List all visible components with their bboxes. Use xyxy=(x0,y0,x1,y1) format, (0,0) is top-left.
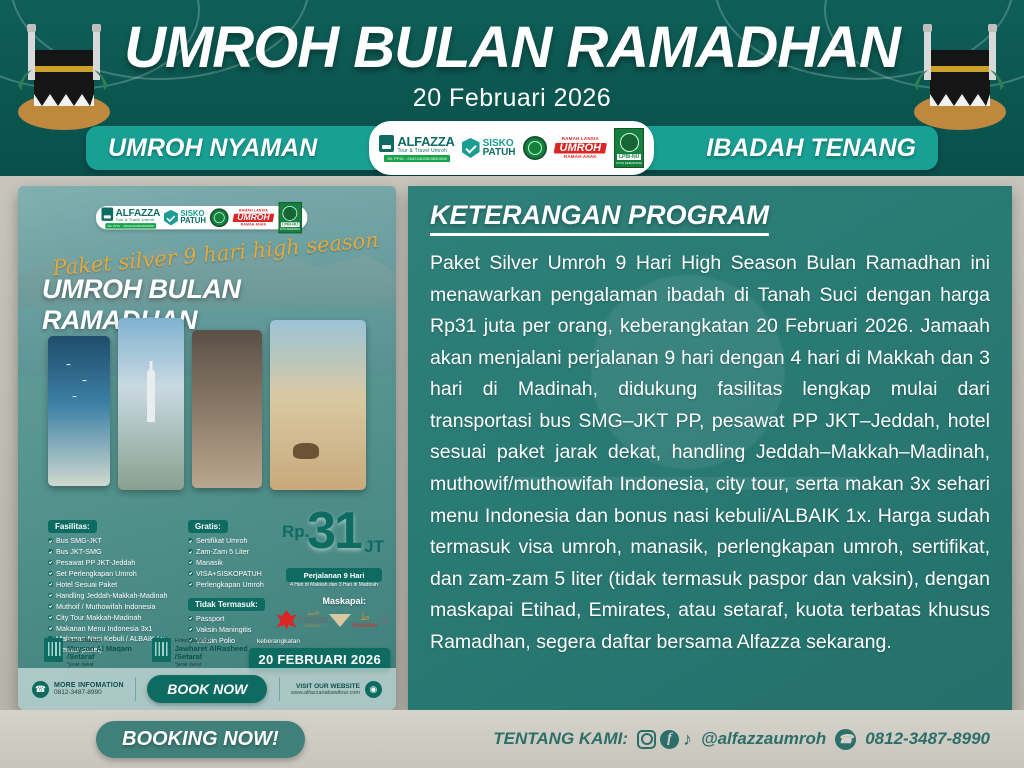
social-icons: f ♪ xyxy=(637,729,692,750)
globe-icon xyxy=(283,206,298,221)
tiktok-icon[interactable]: ♪ xyxy=(683,729,692,750)
alfazza-logo: ALFAZZA Tour & Travel Umroh SK PPIU : 26… xyxy=(101,207,160,229)
shield-check-icon xyxy=(462,138,480,158)
ramah-top: RAMAH LANSIA xyxy=(239,209,268,213)
package-poster-card: ALFAZZA Tour & Travel Umroh SK PPIU : 26… xyxy=(18,186,396,710)
phone-icon: ☎ xyxy=(835,729,856,750)
bottom-bar: BOOKING NOW! TENTANG KAMI: f ♪ @alfazzau… xyxy=(0,710,1024,768)
header-date: 20 Februari 2026 xyxy=(0,84,1024,113)
alfazza-name: ALFAZZA xyxy=(397,134,454,149)
check-icon xyxy=(48,549,53,554)
check-icon xyxy=(48,615,53,620)
poster-footer: ☎ MORE INFOMATION 0812-3487-8990 BOOK NO… xyxy=(18,668,396,710)
lpbi-line2: KOTA SEMARANG xyxy=(616,161,642,165)
trip-duration-detail: 4 Hari di Makkah dan 3 Hari di Madinah xyxy=(278,582,390,588)
ramah-mid: UMROH xyxy=(554,143,608,154)
alfazza-subtitle: Tour & Travel Umroh xyxy=(397,148,454,154)
certification-logo-strip: ALFAZZA Tour & Travel Umroh SK PPIU : 26… xyxy=(369,121,654,175)
book-now-button[interactable]: BOOK NOW xyxy=(147,675,267,703)
ramah-lansia-logo: RAMAH LANSIA UMROH RAMAH ANAK xyxy=(554,137,608,159)
list-item: Handling Jeddah-Makkah-Madinah xyxy=(48,591,180,602)
header-banner: UMROH BULAN RAMADHAN 20 Februari 2026 UM… xyxy=(0,0,1024,176)
free-heading: Gratis: xyxy=(188,520,228,533)
sisko-patuh-logo: SISKO PATUH xyxy=(462,138,516,158)
price-currency: Rp. xyxy=(282,522,309,542)
lpbi-line1: LPBI-NU xyxy=(617,154,641,160)
globe-icon: ◉ xyxy=(365,681,382,698)
social-handle[interactable]: @alfazzaumroh xyxy=(701,729,826,749)
list-item: Pesawat PP JKT-Jeddah xyxy=(48,558,180,569)
about-us-label: TENTANG KAMI: xyxy=(493,729,628,749)
photo-tile-group xyxy=(40,310,376,500)
check-icon xyxy=(188,582,193,587)
check-icon xyxy=(48,571,53,576)
departure-label: keberangkatan xyxy=(257,638,300,645)
about-us-contact: TENTANG KAMI: f ♪ @alfazzaumroh ☎ 0812-3… xyxy=(493,729,990,750)
trip-duration-badge: Perjalanan 9 Hari xyxy=(286,568,382,582)
price-block: Rp. 31 JT xyxy=(282,508,386,555)
photo-tile xyxy=(118,318,184,490)
list-item: Manasik xyxy=(188,558,298,569)
list-item: Bus SMG-JKT xyxy=(48,536,180,547)
divider xyxy=(135,677,136,701)
slogan-left: UMROH NYAMAN xyxy=(108,134,317,163)
kemenag-logo-icon xyxy=(523,136,547,160)
hotel-stars: ★★★★ xyxy=(152,635,171,639)
shield-check-icon xyxy=(164,210,178,226)
airlines-row: الاتحاد ETIHAD AIRWAYS ط Emirates ✈ xyxy=(276,610,392,630)
sisko-line2: PATUH xyxy=(483,148,516,158)
alfazza-name: ALFAZZA xyxy=(116,207,161,219)
price-unit: JT xyxy=(364,537,384,557)
hotel-building-icon: ★★★★ xyxy=(152,638,171,662)
alfazza-sk-number: SK PPIU : 26022402503830008 xyxy=(105,223,156,228)
hotel-makkah: ★★★★ Hotel Makkah Maysan Al Maqam /Setar… xyxy=(44,638,132,668)
website-url: www.alfazzanabawitour.com xyxy=(291,690,360,696)
more-info-label: MORE INFOMATION xyxy=(54,682,124,689)
list-item: Makanan Menu Indonesia 3x1 xyxy=(48,624,180,635)
emirates-airline-icon: ط Emirates xyxy=(352,612,377,629)
camel-decoration xyxy=(293,443,319,459)
description-heading: KETERANGAN PROGRAM xyxy=(430,200,769,236)
hotel-madinah: ★★★★ Hotel Madinah Jawharet AlRasheed /S… xyxy=(152,638,248,668)
alfazza-mark-icon xyxy=(101,208,113,221)
sisko-patuh-logo: SISKO PATUH xyxy=(164,210,206,226)
lpbi-nu-logo: LPBI-NU KOTA SEMARANG xyxy=(614,128,644,168)
hotel-setaraf: /Setaraf xyxy=(67,653,132,662)
ramah-lansia-logo: RAMAH LANSIA UMROH RAMAH ANAK xyxy=(233,209,275,226)
alfazza-mark-icon xyxy=(379,135,394,152)
footer-phone[interactable]: 0812-3487-8990 xyxy=(865,729,990,749)
ramah-bottom: RAMAH ANAK xyxy=(241,223,267,227)
list-item: Bus JKT-SMG xyxy=(48,547,180,558)
check-icon xyxy=(188,627,193,632)
hotel-building-icon: ★★★★ xyxy=(44,638,63,662)
slogan-right: IBADAH TENANG xyxy=(706,134,916,163)
more-info-phone: 0812-3487-8990 xyxy=(54,689,124,696)
alfazza-subtitle: Tour & Travel Umroh xyxy=(116,218,161,223)
check-icon xyxy=(188,538,193,543)
ramah-top: RAMAH LANSIA xyxy=(562,137,599,142)
ramah-mid: UMROH xyxy=(233,213,275,222)
website-link[interactable]: VISIT OUR WEBSITE www.alfazzanabawitour.… xyxy=(291,681,382,698)
kemenag-logo-icon xyxy=(210,208,229,227)
hotel-setaraf: /Setaraf xyxy=(175,653,248,662)
alfazza-sk-number: SK PPIU : 26022402503830008 xyxy=(384,155,450,162)
check-icon xyxy=(188,571,193,576)
hotels-row: ★★★★ Hotel Makkah Maysan Al Maqam /Setar… xyxy=(44,638,248,668)
facilities-heading: Fasilitas: xyxy=(48,520,97,533)
instagram-icon[interactable] xyxy=(637,730,656,749)
ramah-bottom: RAMAH ANAK xyxy=(564,155,597,160)
airline-swoosh-icon xyxy=(329,614,351,627)
photo-tile xyxy=(270,320,366,490)
check-icon xyxy=(48,593,53,598)
slogan-bar: UMROH NYAMAN ALFAZZA Tour & Travel Umroh… xyxy=(86,126,938,170)
check-icon xyxy=(48,604,53,609)
check-icon xyxy=(48,560,53,565)
photo-tile xyxy=(48,336,110,486)
check-icon xyxy=(48,626,53,631)
garuda-airline-icon xyxy=(277,610,297,630)
list-item: VISA+SISKOPATUH xyxy=(188,569,298,580)
minaret-decoration xyxy=(147,370,155,422)
check-icon xyxy=(48,582,53,587)
etihad-airline-icon: الاتحاد ETIHAD AIRWAYS xyxy=(298,612,328,629)
lpbi-line2: KOTA SEMARANG xyxy=(280,228,300,231)
check-icon xyxy=(188,549,193,554)
facebook-icon[interactable]: f xyxy=(660,730,679,749)
airplane-icon: ✈ xyxy=(379,611,392,629)
description-body: Paket Silver Umroh 9 Hari High Season Bu… xyxy=(430,248,990,659)
alfazza-logo: ALFAZZA Tour & Travel Umroh SK PPIU : 26… xyxy=(379,134,454,163)
hotel-note: *jarak dekat xyxy=(67,662,132,668)
booking-now-button[interactable]: BOOKING NOW! xyxy=(96,721,305,758)
phone-icon: ☎ xyxy=(32,681,49,698)
hotel-note: *jarak dekat xyxy=(175,662,248,668)
airlines-label: Maskapai: xyxy=(322,596,366,606)
program-description-panel: KETERANGAN PROGRAM Paket Silver Umroh 9 … xyxy=(408,186,1012,710)
poster-logo-strip: ALFAZZA Tour & Travel Umroh SK PPIU : 26… xyxy=(96,206,307,229)
check-icon xyxy=(48,538,53,543)
list-item: Muthoif / Muthowifah Indonesia xyxy=(48,602,180,613)
page-title: UMROH BULAN RAMADHAN xyxy=(0,14,1024,81)
list-item: Set Perlengkapan Umroh xyxy=(48,569,180,580)
website-label: VISIT OUR WEBSITE xyxy=(291,683,360,690)
lpbi-line1: LPBI-NU xyxy=(280,222,299,227)
check-icon xyxy=(188,616,193,621)
globe-icon xyxy=(620,133,639,152)
lpbi-nu-logo: LPBI-NU KOTA SEMARANG xyxy=(278,202,301,233)
sisko-line2: PATUH xyxy=(180,218,206,225)
promo-poster: UMROH BULAN RAMADHAN 20 Februari 2026 UM… xyxy=(0,0,1024,768)
hotel-stars: ★★★★ xyxy=(44,635,63,639)
more-information[interactable]: ☎ MORE INFOMATION 0812-3487-8990 xyxy=(32,681,124,698)
check-icon xyxy=(188,560,193,565)
divider xyxy=(279,677,280,701)
list-item: Hotel Sesuai Paket xyxy=(48,580,180,591)
photo-tile xyxy=(192,330,262,488)
list-item: City Tour Makkah-Madinah xyxy=(48,613,180,624)
excluded-heading: Tidak Termasuk: xyxy=(188,598,265,611)
